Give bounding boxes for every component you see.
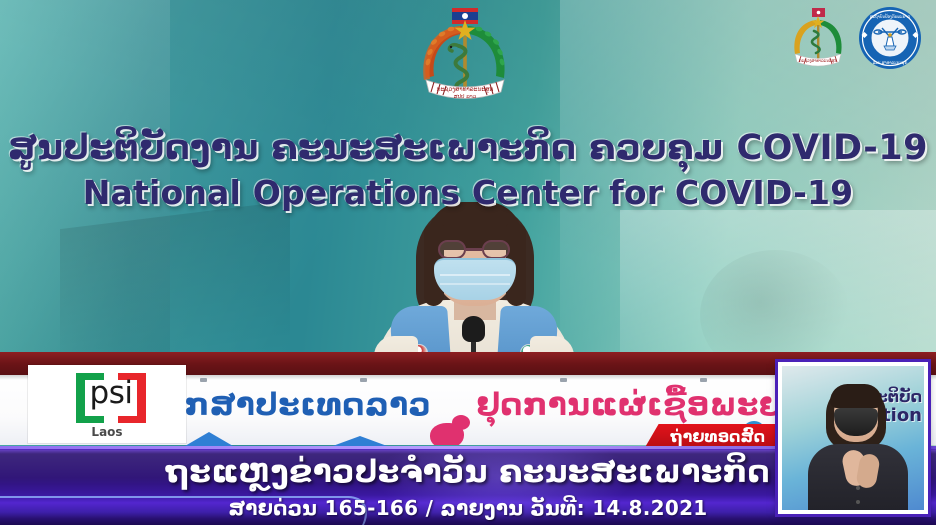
interpreter-hair-top [830,384,882,408]
svg-text:ສປປ ລາວ: ສປປ ລາວ [454,94,477,100]
sign-language-inset: ປະຕິບັດ Nation [778,362,928,514]
banner-clip-icon [200,378,207,382]
ministry-of-health-emblem-icon: ກະຊວງສາທາລະນະສຸກ [784,4,852,72]
speaker-glasses-icon [436,240,514,260]
broadcast-frame: ກະຊວງສາທາລະນະສຸກ ສປປ ລາວ ກະຊວງສາທາລະນະສຸ… [0,0,936,525]
slogan-text-pink: ຢຸດການແຜ່ເຊື້ອພະຍາດ [476,387,824,423]
banner-clip-icon [360,378,367,382]
psi-sub-label: Laos [28,425,186,439]
svg-text:ກະຊວງສາທາລະນະສຸກ: ກະຊວງສາທາລະນະສຸກ [437,86,494,93]
interpreter-button-icon [856,486,860,490]
decorative-blob-pink [452,415,470,430]
ministry-of-health-emblem-icon: ກະຊວງສາທາລະນະສຸກ ສປປ ລາວ [404,2,526,114]
slogan-text-row: ຮັກສາປະເທດລາວ ຢຸດການແຜ່ເຊື້ອພະຍາດ [160,387,825,423]
svg-text:ສະຖາບັນປ້ອງກັນພະຍາດ: ສະຖາບັນປ້ອງກັນພະຍາດ [870,14,911,19]
slogan-text-blue: ຮັກສາປະເທດລາວ [160,387,431,423]
psi-wordmark: psi [76,378,146,409]
psi-laos-logo: psi Laos [28,365,186,443]
interpreter-button-icon [856,500,860,504]
banner-clip-icon [560,378,567,382]
decorative-diamond [185,432,233,446]
health-institute-seal-icon: ສະຖາບັນປ້ອງກັນພະຍາດ ແລະ ສາທາລະນະສຸກ [856,4,924,72]
speaker-face-mask [434,258,516,300]
banner-clip-icon [700,378,707,382]
psi-bracket-mark-icon: psi [76,373,146,423]
live-badge: ຖ່າຍທອດສົດ [645,424,781,448]
microphone-icon [462,316,485,342]
